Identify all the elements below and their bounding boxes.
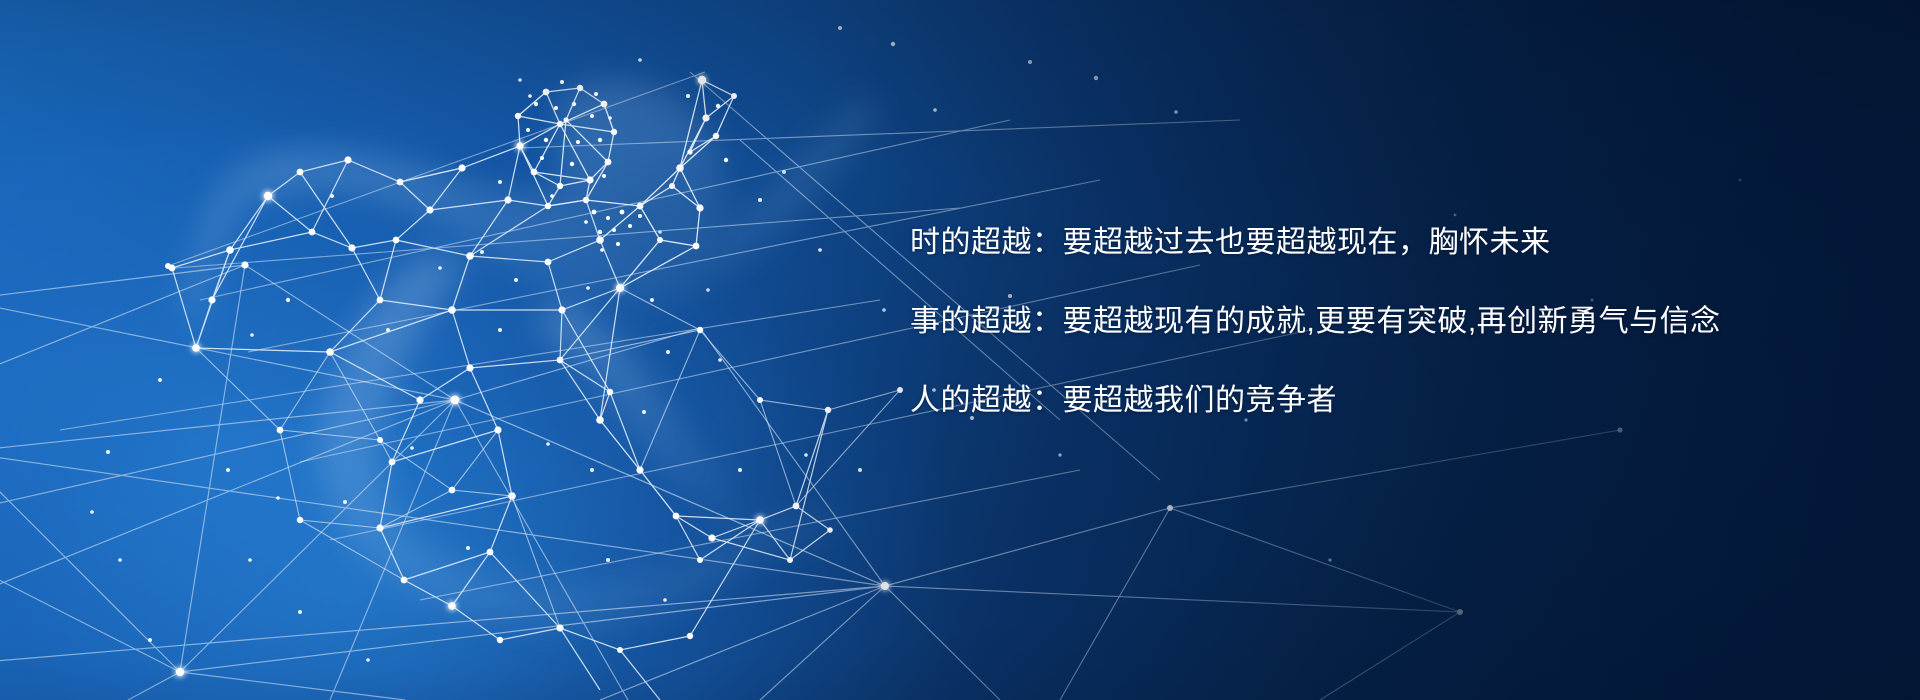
slogan-line-matter: 事的超越：要超越现有的成就,更要有突破,再创新勇气与信念	[910, 307, 1870, 337]
banner-stage: 时的超越：要超越过去也要超越现在，胸怀未来 事的超越：要超越现有的成就,更要有突…	[0, 0, 1920, 700]
slogan-line-time: 时的超越：要超越过去也要超越现在，胸怀未来	[910, 228, 1870, 258]
slogan-text-block: 时的超越：要超越过去也要超越现在，胸怀未来 事的超越：要超越现有的成就,更要有突…	[910, 228, 1870, 416]
slogan-line-people: 人的超越：要超越我们的竞争者	[910, 386, 1870, 416]
